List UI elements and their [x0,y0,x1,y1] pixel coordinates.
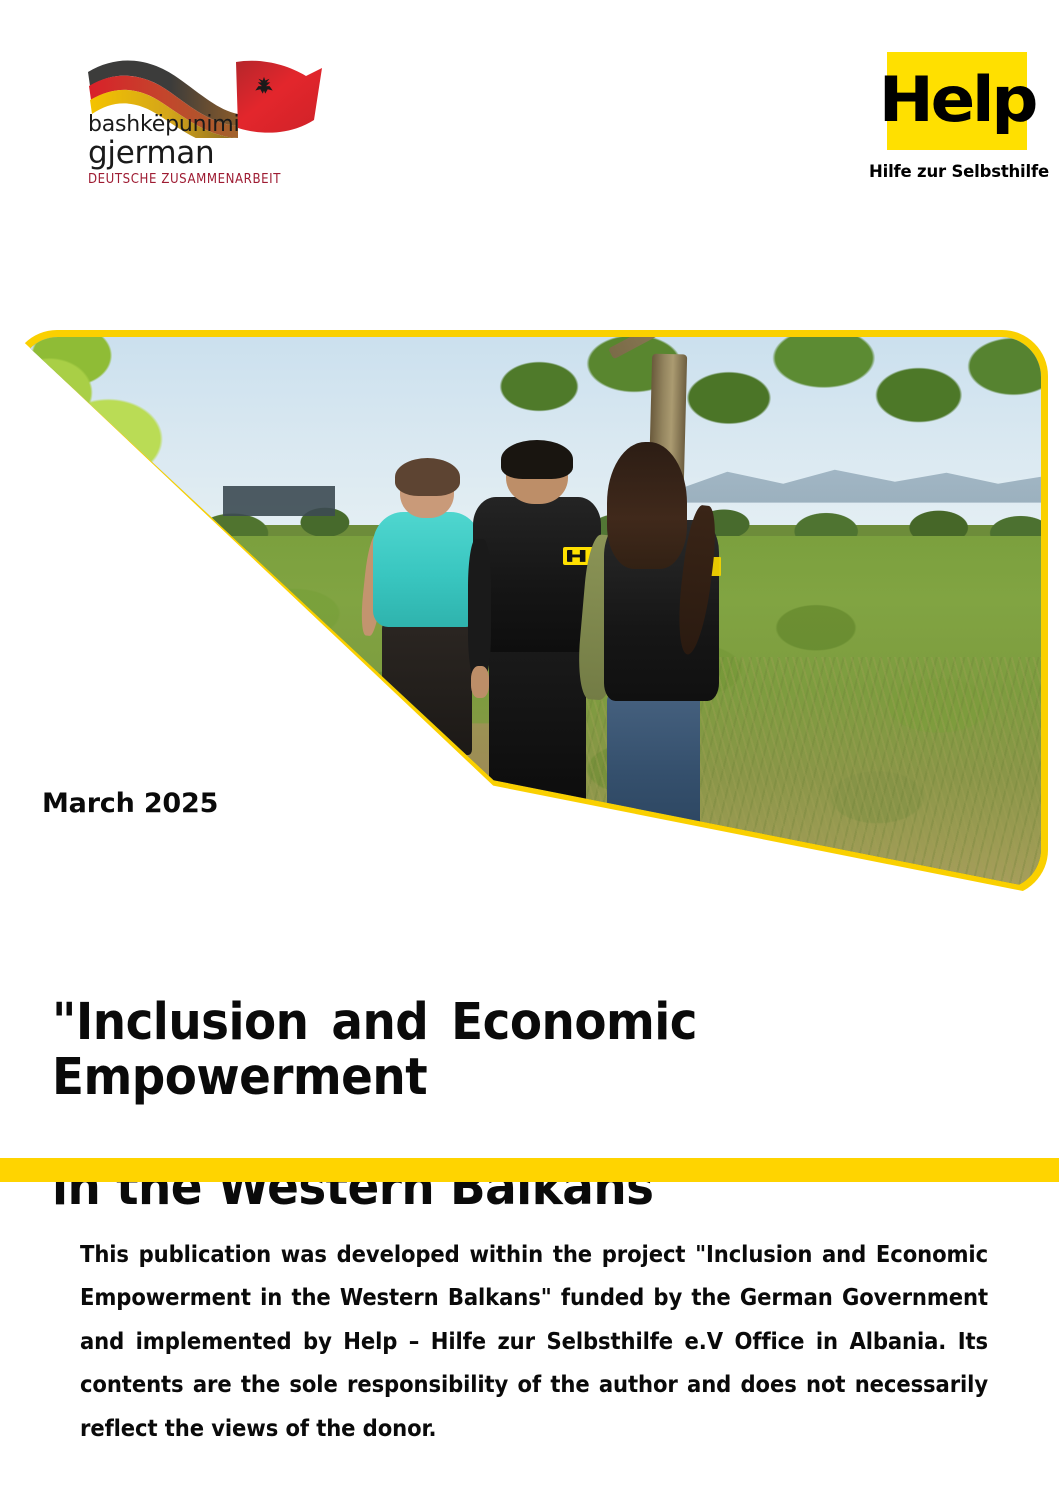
photo-person-hair [501,440,573,479]
photo-person-hair [607,442,687,570]
page-title: "Inclusion and Economic Empowerment in t… [52,940,1052,1270]
photo-person-hair [395,458,460,496]
photo-person-legs [402,749,443,787]
photo-grape-vine-leaves [18,337,366,801]
help-logo-tagline: Hilfe zur Selbsthilfe [869,162,1044,181]
photo-person-woman-olive-sleeves [586,453,719,828]
photo-person-woman-turquoise [371,464,484,784]
german-cooperation-logo: bashkëpunimi gjerman DEUTSCHE ZUSAMMENAR… [78,48,333,193]
page-title-line-1: "Inclusion and Economic Empowerment [52,995,1052,1105]
photo-person-shirt [373,512,481,627]
photo-person-arm [468,539,491,680]
logo-line-bashkepunimi: bashkëpunimi [88,114,338,136]
photo-person-skirt [382,621,472,755]
help-logo: Help Hilfe zur Selbsthilfe [869,52,1044,181]
publication-date: March 2025 [42,788,218,819]
yellow-divider [0,1158,1059,1182]
logo-line-gjerman: gjerman [88,137,338,170]
photo-person-hand [471,666,489,698]
photo-tree-canopy [468,337,1041,458]
help-logo-square: Help [887,52,1027,150]
disclaimer-text: This publication was developed within th… [80,1233,988,1450]
logo-line-deutsche-zusammenarbeit: DEUTSCHE ZUSAMMENARBEIT [88,173,331,187]
help-wordmark: Help [878,69,1034,131]
